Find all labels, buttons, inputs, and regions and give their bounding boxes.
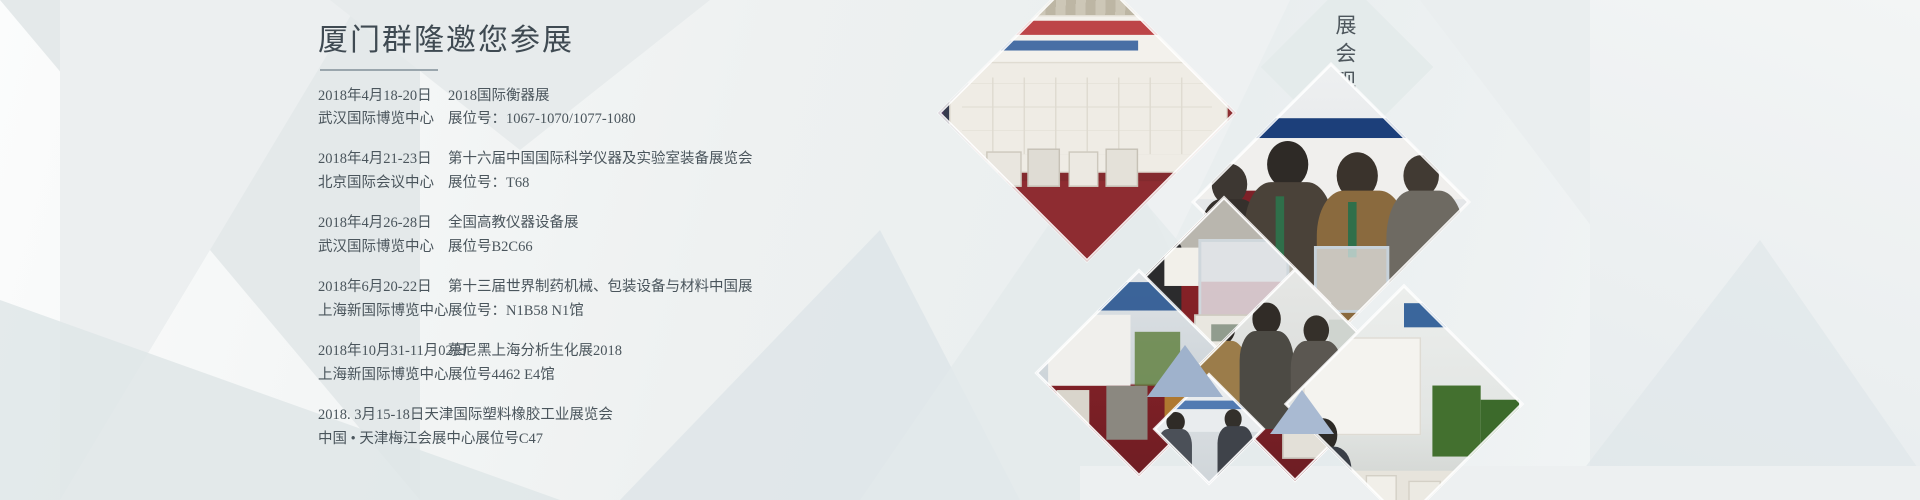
entry-line-primary: 2018年10月31-11月02日 慕尼黑上海分析生化展2018 (318, 340, 958, 363)
entry-line-primary: 2018年4月26-28日 全国高教仪器设备展 (318, 212, 958, 235)
entry-booth: 展位号4462 E4馆 (448, 364, 555, 387)
entry-line-secondary: 北京国际会议中心 展位号：T68 (318, 172, 958, 195)
entry-name: 第十六届中国国际科学仪器及实验室装备展览会 (448, 148, 753, 171)
entry-date: 2018年4月26-28日 (318, 212, 448, 235)
exhibition-entry: 2018年4月21-23日 第十六届中国国际科学仪器及实验室装备展览会 北京国际… (318, 148, 958, 195)
entry-date: 2018年4月21-23日 (318, 148, 448, 171)
entry-venue: 武汉国际博览中心 (318, 236, 448, 259)
exhibition-entry: 2018. 3月15-18日天津国际塑料橡胶工业展览会 中国 • 天津梅江会展中… (318, 404, 958, 451)
exhibition-text-column: 厦门群隆邀您参展 2018年4月18-20日 2018国际衡器展 武汉国际博览中… (318, 22, 958, 468)
entry-booth: 展位号：1067-1070/1077-1080 (448, 108, 636, 131)
entry-line-primary: 2018年4月21-23日 第十六届中国国际科学仪器及实验室装备展览会 (318, 148, 958, 171)
accent-triangle-left (1147, 345, 1223, 397)
entry-date: 2018年4月18-20日 (318, 85, 448, 108)
entry-line-primary: 2018年6月20-22日 第十三届世界制药机械、包装设备与材料中国展 (318, 276, 958, 299)
entry-name: 全国高教仪器设备展 (448, 212, 579, 235)
exhibition-entry: 2018年4月18-20日 2018国际衡器展 武汉国际博览中心 展位号：106… (318, 85, 958, 132)
entry-name: 慕尼黑上海分析生化展2018 (448, 340, 622, 363)
entry-booth: 展位号：T68 (448, 172, 529, 195)
entry-venue: 北京国际会议中心 (318, 172, 448, 195)
entry-line-primary: 2018年4月18-20日 2018国际衡器展 (318, 85, 958, 108)
entry-line-secondary: 武汉国际博览中心 展位号B2C66 (318, 236, 958, 259)
page-title: 厦门群隆邀您参展 (318, 22, 958, 60)
entry-date: 2018年10月31-11月02日 (318, 340, 448, 363)
exhibition-entry: 2018年10月31-11月02日 慕尼黑上海分析生化展2018 上海新国际博览… (318, 340, 958, 387)
entry-line-secondary: 上海新国际博览中心 展位号：N1B58 N1馆 (318, 300, 958, 323)
entry-name: 2018国际衡器展 (448, 85, 550, 108)
entry-booth: 展位号C47 (475, 428, 543, 451)
entry-date: 2018年6月20-22日 (318, 276, 448, 299)
banner-stage: 厦门群隆邀您参展 2018年4月18-20日 2018国际衡器展 武汉国际博览中… (0, 0, 1920, 500)
entry-name: 第十三届世界制药机械、包装设备与材料中国展 (448, 276, 753, 299)
exhibition-entry: 2018年4月26-28日 全国高教仪器设备展 武汉国际博览中心 展位号B2C6… (318, 212, 958, 259)
entry-line-secondary: 中国 • 天津梅江会展中心 展位号C47 (318, 428, 958, 451)
entry-line-primary: 2018. 3月15-18日天津国际塑料橡胶工业展览会 (318, 404, 958, 427)
entry-booth: 展位号：N1B58 N1馆 (448, 300, 584, 323)
entry-line-secondary: 上海新国际博览中心 展位号4462 E4馆 (318, 364, 958, 387)
bg-polygon-9 (1560, 240, 1920, 500)
title-underline (320, 69, 438, 71)
entry-date: 2018. 3月15-18日天津国际塑料橡胶工业展览会 (318, 404, 613, 427)
exhibition-entry: 2018年6月20-22日 第十三届世界制药机械、包装设备与材料中国展 上海新国… (318, 276, 958, 323)
entry-venue: 上海新国际博览中心 (318, 300, 448, 323)
entry-venue: 中国 • 天津梅江会展中心 (318, 428, 475, 451)
accent-triangle-right (1270, 390, 1334, 434)
entry-booth: 展位号B2C66 (448, 236, 533, 259)
entry-line-secondary: 武汉国际博览中心 展位号：1067-1070/1077-1080 (318, 108, 958, 131)
entry-venue: 上海新国际博览中心 (318, 364, 448, 387)
entry-venue: 武汉国际博览中心 (318, 108, 448, 131)
